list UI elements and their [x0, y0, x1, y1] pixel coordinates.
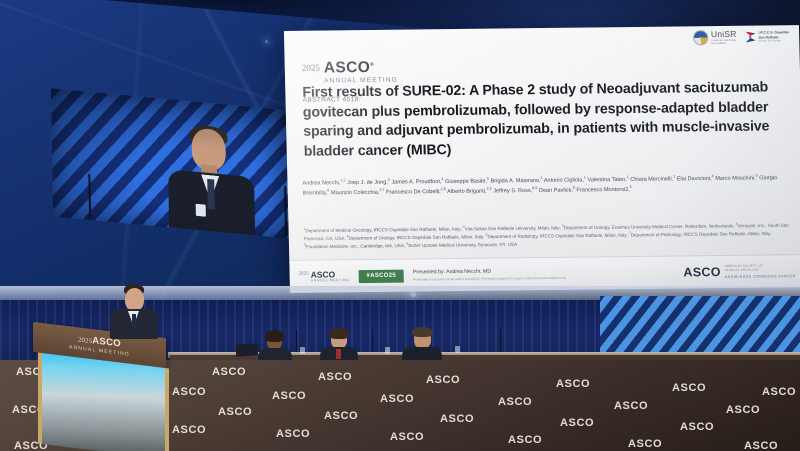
barrier-watermark: ASCO [560, 417, 594, 429]
barrier-watermark: ASCO [440, 413, 474, 425]
barrier-watermark: ASCO [218, 406, 252, 418]
presented-by-label: Presented by: [413, 269, 445, 275]
barrier-watermark: ASCO [726, 404, 760, 416]
slide-title: First results of SURE-02: A Phase 2 stud… [302, 78, 774, 162]
slide-partner-logos: UniSR Università Vita-SaluteSan Raffaele… [693, 28, 790, 46]
presentation-slide: UniSR Università Vita-SaluteSan Raffaele… [284, 25, 800, 293]
footer-logo-year: 2025 [299, 270, 309, 276]
unisr-seal-icon [693, 30, 708, 45]
panel-laptop [236, 343, 258, 357]
barrier-watermark: ASCO [498, 396, 532, 408]
barrier-watermark: ASCO [614, 400, 648, 412]
panelist-1 [258, 332, 292, 360]
barrier-watermark: ASCO [318, 371, 352, 383]
barrier-watermark: ASCO [762, 386, 796, 398]
unisr-logo: UniSR Università Vita-SaluteSan Raffaele [693, 29, 737, 46]
barrier-watermark: ASCO [212, 366, 246, 378]
slide-logo-name: ASCO® [324, 60, 398, 76]
barrier-watermark: ASCO [390, 431, 424, 443]
unisr-logo-sub: Università Vita-SaluteSan Raffaele [711, 39, 737, 46]
barrier-watermark: ASCO [426, 374, 460, 386]
presenter-block: Presented by: Andrea Necchi, MD Presenta… [413, 268, 566, 282]
irccs-logo-sub: Gruppo San Donato [759, 39, 790, 42]
barrier-watermark: ASCO [744, 440, 778, 451]
irccs-logo-name: I.R.C.C.S. OspedaleSan Raffaele [758, 31, 789, 40]
society-logo-name: ASCO [683, 265, 721, 279]
barrier-watermark: ASCO [508, 434, 542, 446]
water-glass-1 [300, 347, 305, 354]
society-tagline: KNOWLEDGE CONQUERS CANCER [725, 274, 796, 279]
unisr-logo-name: UniSR [711, 29, 737, 39]
irccs-mark-icon [745, 31, 755, 42]
author-list: Andrea Necchi,1,2 Joep J. de Jong,3 Jame… [302, 173, 789, 198]
footer-logo-subtitle: ANNUAL MEETING [311, 278, 350, 282]
barrier-watermark: ASCO [680, 421, 714, 433]
barrier-watermark: ASCO [172, 424, 206, 436]
water-glass-2 [385, 347, 390, 354]
footer-society-logo: ASCO AMERICAN SOCIETY OFCLINICAL ONCOLOG… [683, 264, 796, 279]
society-name: AMERICAN SOCIETY OFCLINICAL ONCOLOGY [725, 264, 796, 273]
panelist-3 [402, 329, 442, 361]
hashtag-badge: #ASCO25 [358, 269, 404, 283]
conference-photo: UniSR Università Vita-SaluteSan Raffaele… [0, 0, 800, 451]
table-microphone-3 [500, 328, 501, 352]
barrier-watermark: ASCO [556, 378, 590, 390]
speaker-podium: 2025ASCO ANNUAL MEETING [33, 322, 166, 451]
panelist-2 [320, 330, 358, 360]
footer-asco-logo: 2025 ASCO ANNUAL MEETING [299, 270, 350, 283]
water-glass-3 [455, 346, 460, 353]
slide-logo-year: 2025 [302, 61, 320, 73]
presenter-name: Andrea Necchi, MD [446, 269, 491, 276]
barrier-watermark: ASCO [276, 428, 310, 440]
podium-sign-year: 2025 [78, 336, 92, 345]
irccs-logo: I.R.C.C.S. OspedaleSan Raffaele Gruppo S… [745, 31, 789, 43]
table-microphone-1 [296, 330, 297, 352]
barrier-watermark: ASCO [628, 438, 662, 450]
barrier-watermark: ASCO [324, 410, 358, 422]
affiliation-list: 1Department of Medical Oncology, IRCCS O… [304, 221, 792, 251]
barrier-watermark: ASCO [672, 382, 706, 394]
live-speaker [108, 286, 160, 338]
barrier-watermark: ASCO [380, 393, 414, 405]
table-microphone-2 [372, 329, 373, 352]
barrier-watermark: ASCO [272, 390, 306, 402]
barrier-watermark: ASCO [172, 386, 206, 398]
podium-body [38, 352, 169, 451]
